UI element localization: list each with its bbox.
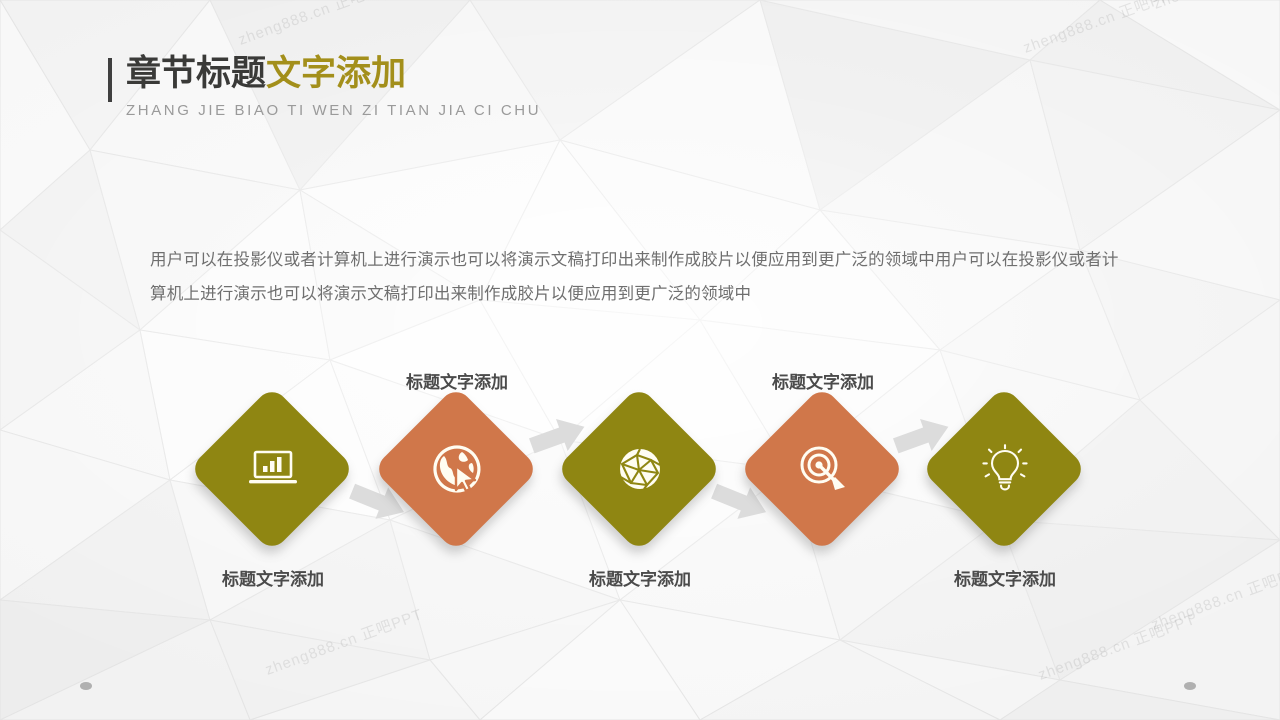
flow-node-2-label: 标题文字添加 [347, 368, 567, 393]
footer-dot-left [80, 682, 92, 690]
title-accent-bar [108, 58, 112, 102]
page-title: 章节标题文字添加 [108, 52, 541, 96]
flow-node-2[interactable]: 标题文字添加 [382, 410, 532, 560]
flow-node-5-label: 标题文字添加 [895, 565, 1115, 590]
flow-node-1-label: 标题文字添加 [163, 565, 383, 590]
flow-node-4-label: 标题文字添加 [713, 368, 933, 393]
flow-node-4[interactable]: 标题文字添加 [748, 410, 898, 560]
page-title-primary: 章节标题 [126, 54, 266, 93]
slide-header: 章节标题文字添加 ZHANG JIE BIAO TI WEN ZI TIAN J… [108, 52, 541, 119]
page-title-accent: 文字添加 [266, 54, 406, 93]
flow-node-3-diamond[interactable] [556, 386, 723, 553]
flow-node-4-diamond[interactable] [739, 386, 906, 553]
body-paragraph: 用户可以在投影仪或者计算机上进行演示也可以将演示文稿打印出来制作成胶片以便应用到… [150, 243, 1135, 311]
flow-node-5-diamond[interactable] [921, 386, 1088, 553]
flow-node-3[interactable]: 标题文字添加 [565, 410, 715, 560]
slide-canvas: zheng888.cn 正吧PPTzheng888.cn 正吧PPTzheng8… [0, 0, 1280, 720]
page-subtitle: ZHANG JIE BIAO TI WEN ZI TIAN JIA CI CHU [108, 102, 541, 119]
flow-node-1-diamond[interactable] [189, 386, 356, 553]
footer-dot-right [1184, 682, 1196, 690]
flow-node-2-diamond[interactable] [373, 386, 540, 553]
flow-node-3-label: 标题文字添加 [530, 565, 750, 590]
flow-node-5[interactable]: 标题文字添加 [930, 410, 1080, 560]
process-flow: 标题文字添加 标题文字添加 [0, 352, 1280, 592]
flow-node-1[interactable]: 标题文字添加 [198, 410, 348, 560]
